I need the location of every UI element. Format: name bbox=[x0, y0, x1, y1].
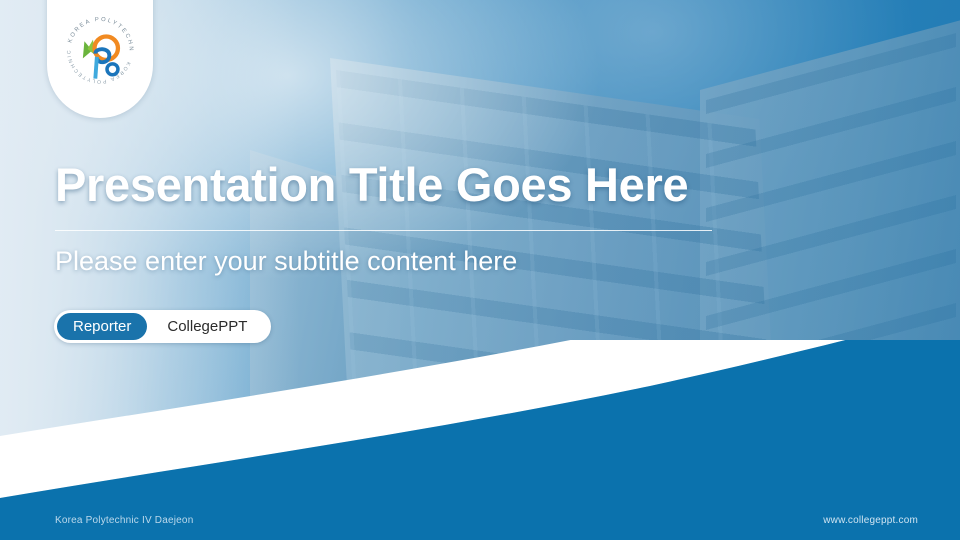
reporter-badge[interactable]: Reporter CollegePPT bbox=[54, 310, 271, 343]
presentation-slide: KOREA POLYTECHNICS KOREA POLYTECHNICS Pr… bbox=[0, 0, 960, 540]
page-subtitle: Please enter your subtitle content here bbox=[55, 246, 755, 277]
reporter-tag-label: Reporter bbox=[57, 313, 147, 340]
logo-panel: KOREA POLYTECHNICS KOREA POLYTECHNICS bbox=[47, 0, 153, 118]
korea-polytechnics-logo-icon: KOREA POLYTECHNICS KOREA POLYTECHNICS bbox=[61, 10, 139, 88]
reporter-value: CollegePPT bbox=[147, 318, 255, 335]
svg-text:KOREA POLYTECHNICS: KOREA POLYTECHNICS bbox=[61, 10, 134, 53]
page-title: Presentation Title Goes Here bbox=[55, 160, 755, 211]
footer-organization: Korea Polytechnic IV Daejeon bbox=[55, 515, 193, 526]
footer-website[interactable]: www.collegeppt.com bbox=[823, 515, 918, 526]
title-divider bbox=[55, 230, 712, 231]
wave-decoration bbox=[0, 340, 960, 540]
